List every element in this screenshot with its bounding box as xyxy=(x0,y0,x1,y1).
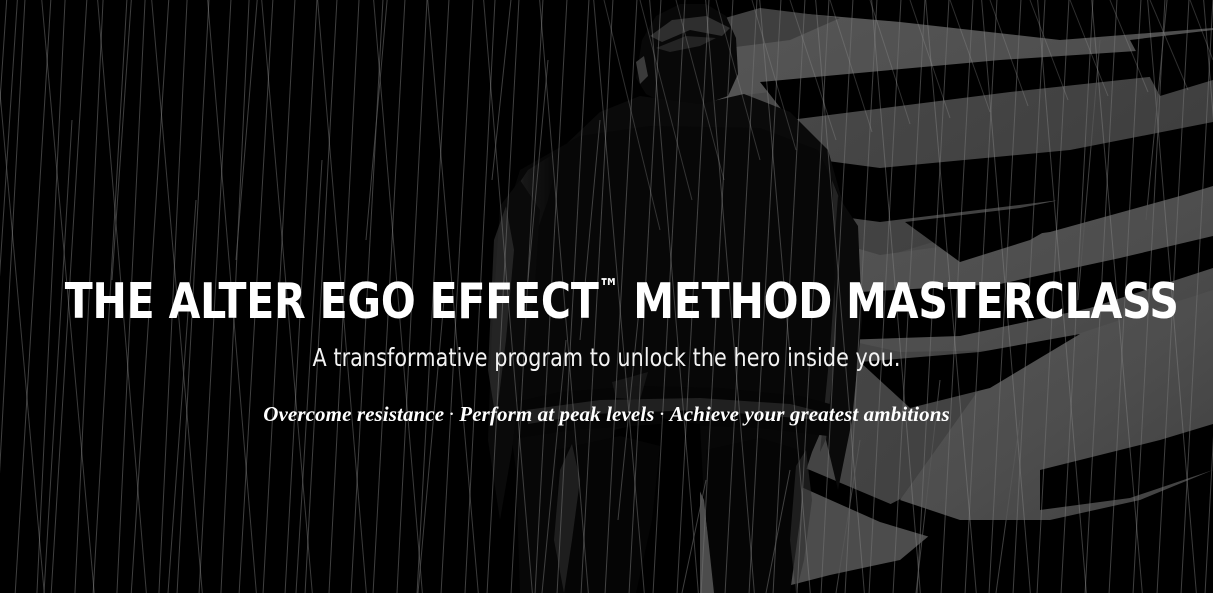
page-title-tail: METHOD MASTERCLASS xyxy=(619,273,1179,330)
tagline-separator-2: · xyxy=(655,402,670,426)
page-title: THE ALTER EGO EFFECT™ METHOD MASTERCLASS xyxy=(65,262,1148,328)
page-subtitle: A transformative program to unlock the h… xyxy=(71,344,1143,372)
tagline-part-3: Achieve your greatest ambitions xyxy=(670,402,950,426)
page-tagline: Overcome resistance·Perform at peak leve… xyxy=(24,402,1189,426)
tagline-separator-1: · xyxy=(444,402,459,426)
hero-banner: THE ALTER EGO EFFECT™ METHOD MASTERCLASS… xyxy=(0,0,1213,593)
tagline-part-2: Perform at peak levels xyxy=(459,402,654,426)
trademark-symbol: ™ xyxy=(599,273,620,302)
page-title-main: THE ALTER EGO EFFECT xyxy=(65,273,599,330)
hero-copy-block: THE ALTER EGO EFFECT™ METHOD MASTERCLASS… xyxy=(0,262,1213,426)
tagline-part-1: Overcome resistance xyxy=(263,402,444,426)
